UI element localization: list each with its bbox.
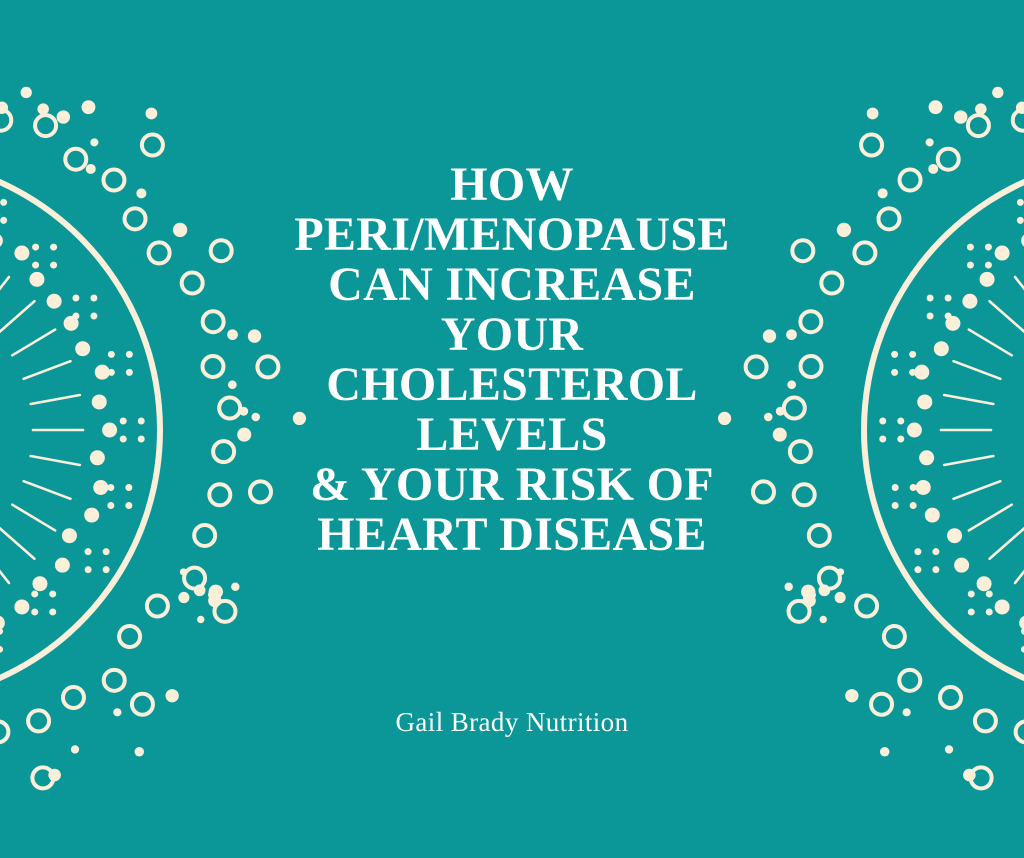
brand-name: Gail Brady Nutrition <box>396 705 629 739</box>
title-line: CAN INCREASE <box>232 260 792 310</box>
title-line: YOUR <box>232 310 792 360</box>
title-line: HOW <box>232 160 792 210</box>
page-title: HOW PERI/MENOPAUSE CAN INCREASE YOUR CHO… <box>232 160 792 560</box>
title-line: & YOUR RISK OF <box>232 460 792 510</box>
title-line: PERI/MENOPAUSE <box>232 210 792 260</box>
poster-canvas: HOW PERI/MENOPAUSE CAN INCREASE YOUR CHO… <box>0 0 1024 858</box>
title-line: HEART DISEASE <box>232 510 792 560</box>
title-line: CHOLESTEROL <box>232 360 792 410</box>
title-line: LEVELS <box>232 410 792 460</box>
